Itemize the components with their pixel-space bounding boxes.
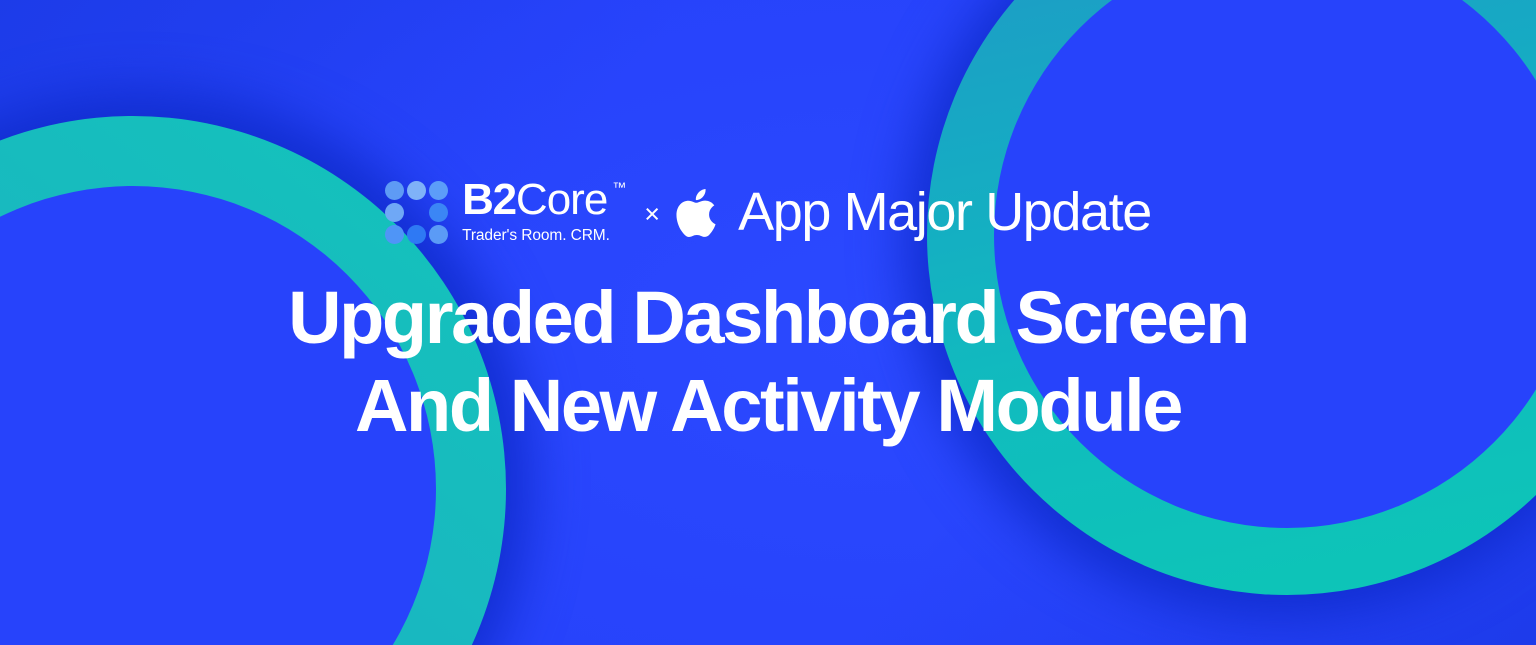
promo-banner: B2 Core ™ Trader's Room. CRM. × App Majo… xyxy=(0,0,1536,645)
logo-dot-8 xyxy=(407,225,426,244)
logo-dot-9 xyxy=(429,225,448,244)
b2core-wordmark-block: B2 Core ™ Trader's Room. CRM. xyxy=(462,179,626,245)
logo-dot-6 xyxy=(429,203,448,222)
logo-dot-7 xyxy=(385,225,404,244)
logo-dot-3 xyxy=(429,181,448,200)
brand-lockup: B2 Core ™ Trader's Room. CRM. × App Majo… xyxy=(385,176,1151,248)
lockup-title: App Major Update xyxy=(738,185,1151,239)
brand-tagline: Trader's Room. CRM. xyxy=(462,227,626,245)
headline-line-1: Upgraded Dashboard Screen xyxy=(288,274,1248,362)
brand-name-bold: B2 xyxy=(462,179,516,221)
b2core-wordmark: B2 Core ™ xyxy=(462,179,626,221)
b2core-logo-mark xyxy=(385,181,448,244)
apple-logo-icon xyxy=(676,189,716,237)
banner-content: B2 Core ™ Trader's Room. CRM. × App Majo… xyxy=(0,0,1536,645)
brand-name-regular: Core xyxy=(516,179,607,221)
headline: Upgraded Dashboard Screen And New Activi… xyxy=(288,274,1248,450)
multiplication-cross-icon: × xyxy=(644,201,660,228)
logo-dot-1 xyxy=(385,181,404,200)
logo-dot-2 xyxy=(407,181,426,200)
logo-dot-4 xyxy=(385,203,404,222)
trademark-symbol: ™ xyxy=(612,180,626,194)
headline-line-2: And New Activity Module xyxy=(288,362,1248,450)
logo-dot-center-empty xyxy=(407,203,426,222)
